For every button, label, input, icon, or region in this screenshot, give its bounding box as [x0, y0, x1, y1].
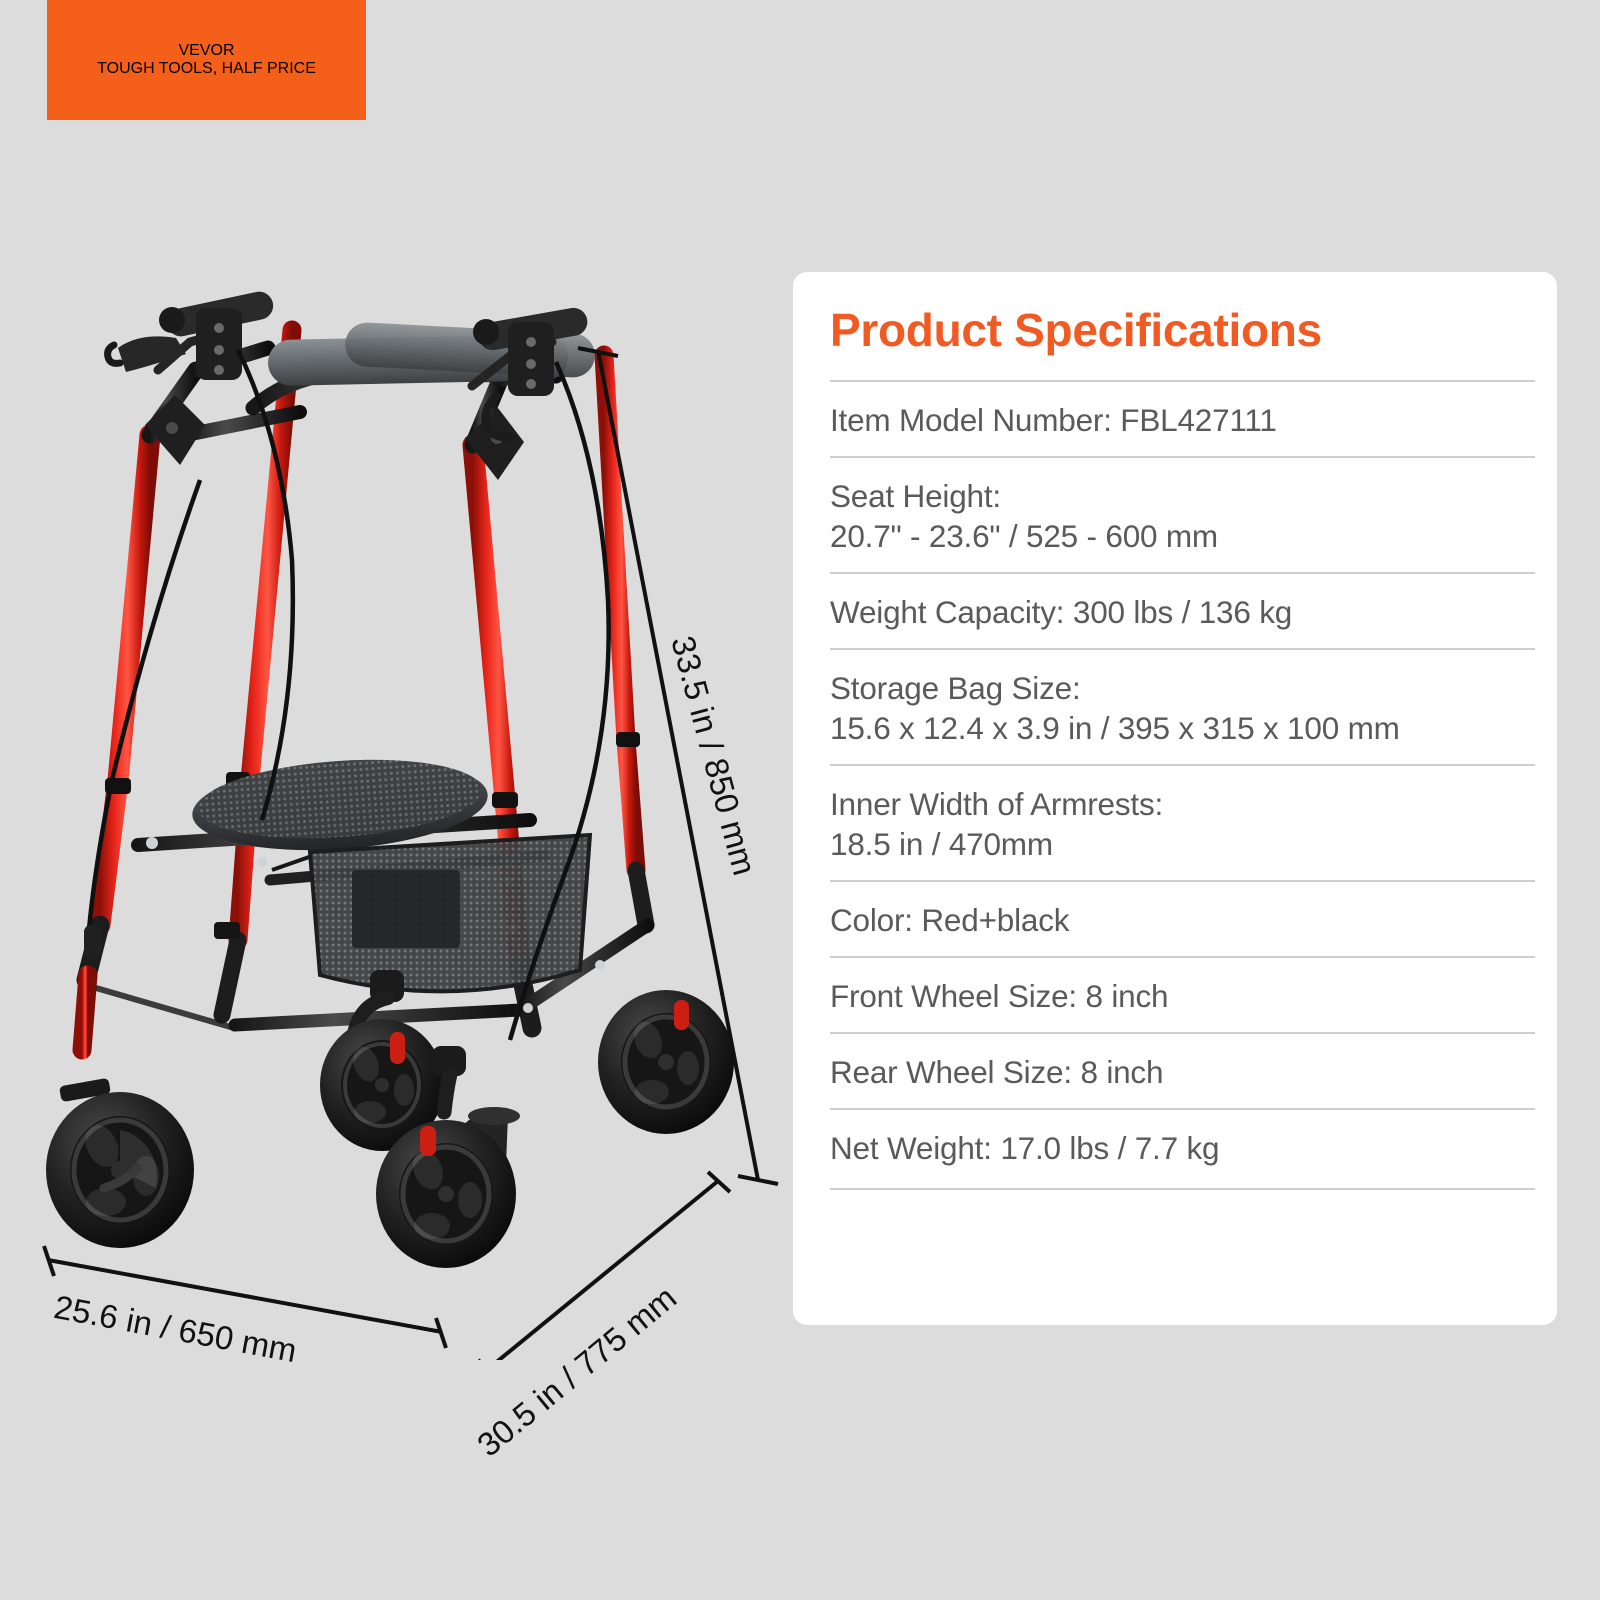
- spec-line: Inner Width of Armrests:: [830, 784, 1535, 824]
- spec-row-front-wheel-size: Front Wheel Size: 8 inch: [830, 956, 1535, 1032]
- spec-value-weight-capacity: Weight Capacity: 300 lbs / 136 kg: [830, 592, 1535, 632]
- spec-value-net-weight: Net Weight: 17.0 lbs / 7.7 kg: [830, 1128, 1535, 1168]
- front-left-leg: [59, 435, 150, 1177]
- spec-line: Storage Bag Size:: [830, 668, 1535, 708]
- spec-line: Color: Red+black: [830, 900, 1535, 940]
- spec-row-item-model-number: Item Model Number: FBL427111: [830, 380, 1535, 456]
- spec-line: Front Wheel Size: 8 inch: [830, 976, 1535, 1016]
- spec-line: Net Weight: 17.0 lbs / 7.7 kg: [830, 1128, 1535, 1168]
- brand-wordmark: VEVOR: [178, 42, 234, 60]
- brand-tagline: TOUGH TOOLS, HALF PRICE: [97, 60, 316, 78]
- spec-row-color: Color: Red+black: [830, 880, 1535, 956]
- spec-footer-divider: [830, 1188, 1535, 1190]
- spec-value-inner-width-of-armrests: Inner Width of Armrests: 18.5 in / 470mm: [830, 784, 1535, 864]
- spec-value-item-model-number: Item Model Number: FBL427111: [830, 400, 1535, 440]
- spec-line: Seat Height:: [830, 476, 1535, 516]
- spec-row-weight-capacity: Weight Capacity: 300 lbs / 136 kg: [830, 572, 1535, 648]
- spec-row-net-weight: Net Weight: 17.0 lbs / 7.7 kg: [830, 1108, 1535, 1184]
- spec-row-storage-bag-size: Storage Bag Size: 15.6 x 12.4 x 3.9 in /…: [830, 648, 1535, 764]
- spec-value-seat-height: Seat Height: 20.7" - 23.6" / 525 - 600 m…: [830, 476, 1535, 556]
- brand-logo: VEVOR TOUGH TOOLS, HALF PRICE: [47, 0, 366, 120]
- spec-value-front-wheel-size: Front Wheel Size: 8 inch: [830, 976, 1535, 1016]
- spec-line: 20.7" - 23.6" / 525 - 600 mm: [830, 516, 1535, 556]
- product-illustration: [0, 180, 790, 1360]
- spec-value-color: Color: Red+black: [830, 900, 1535, 940]
- spec-line: Weight Capacity: 300 lbs / 136 kg: [830, 592, 1535, 632]
- spec-line: Item Model Number: FBL427111: [830, 400, 1535, 440]
- spec-line: 18.5 in / 470mm: [830, 824, 1535, 864]
- spec-value-rear-wheel-size: Rear Wheel Size: 8 inch: [830, 1052, 1535, 1092]
- mesh-storage-basket: [272, 835, 590, 991]
- spec-value-storage-bag-size: Storage Bag Size: 15.6 x 12.4 x 3.9 in /…: [830, 668, 1535, 748]
- spec-line: Rear Wheel Size: 8 inch: [830, 1052, 1535, 1092]
- product-figure: 25.6 in / 650 mm 30.5 in / 775 mm 33.5 i…: [0, 180, 790, 1360]
- wheel-rear-left: [46, 1092, 194, 1248]
- spec-row-inner-width-of-armrests: Inner Width of Armrests: 18.5 in / 470mm: [830, 764, 1535, 880]
- spec-row-seat-height: Seat Height: 20.7" - 23.6" / 525 - 600 m…: [830, 456, 1535, 572]
- spec-panel-title: Product Specifications: [830, 306, 1535, 354]
- spec-row-rear-wheel-size: Rear Wheel Size: 8 inch: [830, 1032, 1535, 1108]
- product-specifications-card: Product Specifications Item Model Number…: [793, 272, 1557, 1325]
- wheel-rear-right: [598, 990, 734, 1134]
- spec-line: 15.6 x 12.4 x 3.9 in / 395 x 315 x 100 m…: [830, 708, 1535, 748]
